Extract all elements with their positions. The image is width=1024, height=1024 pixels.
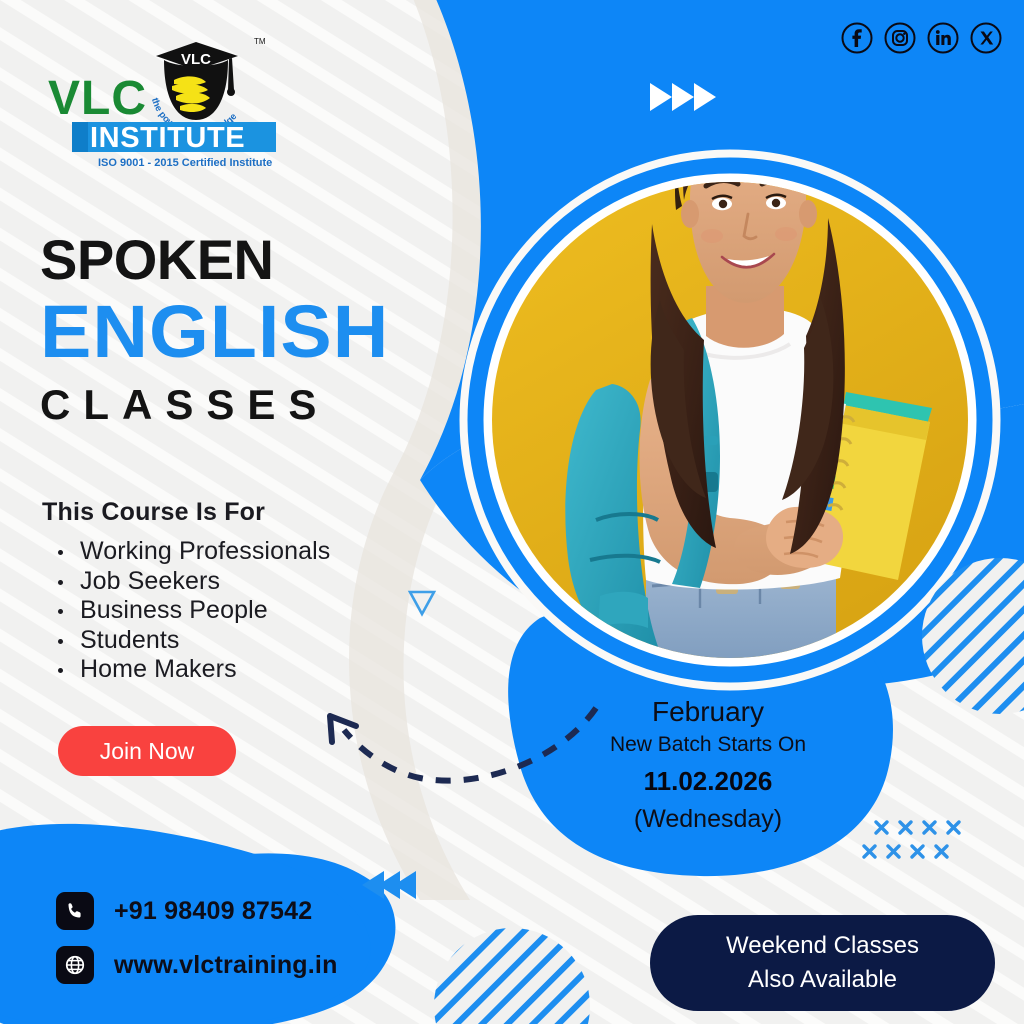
list-item-label: Working Professionals <box>80 537 330 565</box>
course-audience-title: This Course Is For <box>42 498 462 527</box>
batch-month: February <box>560 694 856 729</box>
contact-block: +91 98409 87542 www.vlctraining.in <box>56 892 386 1000</box>
logo-primary-text: VLC <box>48 72 147 125</box>
contact-phone-text: +91 98409 87542 <box>114 897 312 926</box>
graduation-cap-icon: VLC <box>156 42 238 120</box>
batch-subtitle: New Batch Starts On <box>560 729 856 761</box>
poster-canvas: VLC TM the power of knowledge VLC INSTIT… <box>0 0 1024 1024</box>
weekend-classes-badge: Weekend Classes Also Available <box>650 915 995 1011</box>
logo-cap-text: VLC <box>181 51 211 68</box>
linkedin-icon[interactable] <box>927 22 959 54</box>
course-audience-list: Working Professionals Job Seekers Busine… <box>42 537 462 685</box>
globe-icon <box>56 946 94 984</box>
headline-line-1: SPOKEN <box>40 232 460 288</box>
logo-trademark: TM <box>254 37 266 46</box>
brand-logo: VLC TM the power of knowledge VLC INSTIT… <box>46 28 276 178</box>
weekend-badge-line-2: Also Available <box>748 963 897 997</box>
logo-certification-text: ISO 9001 - 2015 Certified Institute <box>98 157 272 169</box>
photo-content <box>490 110 970 672</box>
bullet-dot-icon <box>58 639 63 644</box>
list-item: Students <box>42 626 462 656</box>
list-item: Home Makers <box>42 655 462 685</box>
x-twitter-icon[interactable] <box>970 22 1002 54</box>
list-item: Working Professionals <box>42 537 462 567</box>
bullet-dot-icon <box>58 668 63 673</box>
list-item: Business People <box>42 596 462 626</box>
list-item-label: Home Makers <box>80 655 237 683</box>
facebook-icon[interactable] <box>841 22 873 54</box>
bullet-dot-icon <box>58 609 63 614</box>
list-item: Job Seekers <box>42 567 462 597</box>
contact-website-text: www.vlctraining.in <box>114 951 338 980</box>
course-audience-block: This Course Is For Working Professionals… <box>42 498 462 685</box>
bullet-dot-icon <box>58 550 63 555</box>
list-item-label: Business People <box>80 596 268 624</box>
phone-icon <box>56 892 94 930</box>
contact-website-row[interactable]: www.vlctraining.in <box>56 946 386 984</box>
list-item-label: Job Seekers <box>80 567 220 595</box>
headline-line-3: CLASSES <box>40 382 460 428</box>
weekend-badge-line-1: Weekend Classes <box>726 929 919 963</box>
bullet-dot-icon <box>58 580 63 585</box>
logo-secondary-text: INSTITUTE <box>90 122 245 154</box>
join-now-button[interactable]: Join Now <box>58 726 236 776</box>
social-links[interactable] <box>841 22 1002 54</box>
batch-info-block: February New Batch Starts On 11.02.2026 … <box>560 694 856 838</box>
batch-day: (Wednesday) <box>560 801 856 839</box>
instagram-icon[interactable] <box>884 22 916 54</box>
page-title: SPOKEN ENGLISH CLASSES <box>40 232 460 428</box>
contact-phone-row[interactable]: +91 98409 87542 <box>56 892 386 930</box>
batch-date: 11.02.2026 <box>560 761 856 801</box>
list-item-label: Students <box>80 626 179 654</box>
headline-line-2: ENGLISH <box>40 292 477 372</box>
